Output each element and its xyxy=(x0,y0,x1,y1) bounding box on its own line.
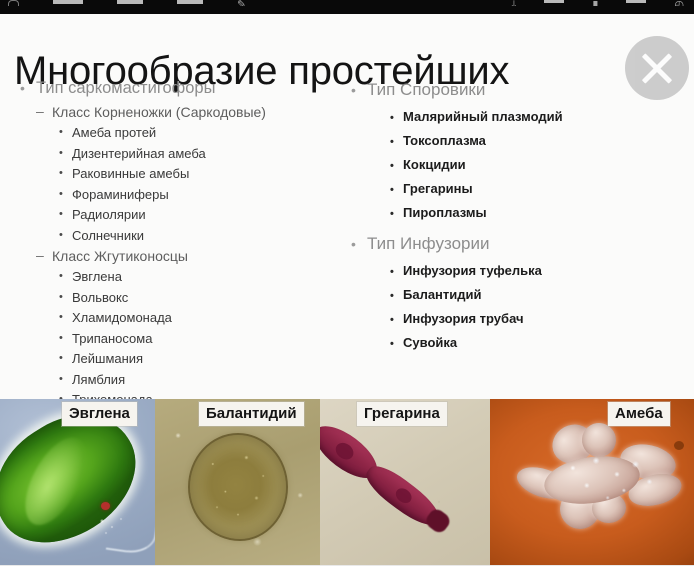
list-item-label: Солнечники xyxy=(72,228,144,243)
euglena-photo: Эвглена xyxy=(0,399,155,565)
menu-icon[interactable] xyxy=(8,0,19,6)
bullet-icon: • xyxy=(351,230,356,258)
content-column-right: • Тип Споровики • Малярийный плазмодий •… xyxy=(345,76,685,360)
bullet-icon: • xyxy=(59,225,63,246)
bullet-icon: • xyxy=(59,348,63,369)
bullet-icon: • xyxy=(59,122,63,143)
photo-caption: Эвглена xyxy=(62,402,137,426)
amoeba-debris-speck xyxy=(674,441,684,450)
outline-heading-sarcomastigophora: • Тип саркомастигофоры xyxy=(14,76,344,101)
amoeba-cell-shape xyxy=(508,423,680,535)
bullet-icon: • xyxy=(59,204,63,225)
dash-bullet-icon: – xyxy=(36,101,44,122)
top-bar-left-icons: ✎ xyxy=(8,0,246,14)
list-item: • Вольвокс xyxy=(14,288,344,309)
bullet-icon: • xyxy=(20,76,25,101)
list-item: • Эвглена xyxy=(14,267,344,288)
list-item-label: Вольвокс xyxy=(72,290,128,305)
list-item-label: Амеба протей xyxy=(72,125,156,140)
outline-level-2-list-flagellata: – Класс Жгутиконосцы • Эвглена • Вольвок… xyxy=(14,246,344,411)
top-bar-right-icons: ⤓ ▮ ◴ xyxy=(511,0,684,14)
download-icon[interactable]: ⤓ xyxy=(511,0,516,6)
outline-level-1-list: • Тип Споровики • Малярийный плазмодий •… xyxy=(345,76,685,225)
list-item: • Инфузория туфелька xyxy=(345,259,685,283)
list-item: • Пироплазмы xyxy=(345,201,685,225)
dash-bullet-icon: – xyxy=(36,245,44,266)
list-item: • Радиолярии xyxy=(14,205,344,226)
battery-icon xyxy=(544,0,564,3)
screenshot-root: ✎ ⤓ ▮ ◴ Многообразие простейших • Тип са… xyxy=(0,0,694,584)
list-item: • Трипаносома xyxy=(14,329,344,350)
outline-level-1-list: • Тип Инфузории • Инфузория туфелька • Б… xyxy=(345,230,685,355)
bullet-icon: • xyxy=(390,178,394,202)
balantidium-cytoplasm-granules xyxy=(196,441,280,533)
list-item: • Солнечники xyxy=(14,226,344,247)
list-item-label: Дизентерийная амеба xyxy=(72,146,206,161)
photo-caption: Балантидий xyxy=(199,402,304,426)
list-item-label: Кокцидии xyxy=(403,157,466,172)
bullet-icon: • xyxy=(59,266,63,287)
list-item: • Балантидий xyxy=(345,283,685,307)
edit-icon[interactable]: ✎ xyxy=(237,0,246,6)
outline-heading-infusoria: • Тип Инфузории xyxy=(345,230,685,258)
list-item: • Кокцидии xyxy=(345,153,685,177)
list-item-label: Малярийный плазмодий xyxy=(403,109,563,124)
outline-group-sporozoa: • Тип Споровики • Малярийный плазмодий •… xyxy=(345,76,685,225)
bullet-icon: • xyxy=(390,332,394,356)
close-button[interactable] xyxy=(625,36,689,100)
bullet-icon: • xyxy=(390,202,394,226)
balantidium-photo: Балантидий xyxy=(155,399,320,565)
bullet-icon: • xyxy=(390,260,394,284)
bullet-icon: • xyxy=(59,184,63,205)
bullet-icon: • xyxy=(59,143,63,164)
outline-level-1-list: • Тип саркомастигофоры xyxy=(14,76,344,101)
balantidium-cyst-shape xyxy=(188,433,288,541)
list-item: • Дизентерийная амеба xyxy=(14,144,344,165)
list-item-label: Раковинные амебы xyxy=(72,166,189,181)
bullet-icon: • xyxy=(59,287,63,308)
list-item-label: Лямблия xyxy=(72,372,125,387)
list-item-label: Эвглена xyxy=(72,269,122,284)
list-item: • Амеба протей xyxy=(14,123,344,144)
list-item-label: Инфузория трубач xyxy=(403,311,524,326)
app-top-bar: ✎ ⤓ ▮ ◴ xyxy=(0,0,694,14)
list-item: • Фораминиферы xyxy=(14,185,344,206)
list-item: • Хламидомонада xyxy=(14,308,344,329)
photo-caption: Амеба xyxy=(608,402,670,426)
outline-subheading-label: Класс Корненожки (Саркодовые) xyxy=(52,104,266,120)
list-item: • Раковинные амебы xyxy=(14,164,344,185)
outline-subheading-flagellata: – Класс Жгутиконосцы xyxy=(14,246,344,267)
clock-icon: ◴ xyxy=(674,0,684,6)
bullet-icon: • xyxy=(59,369,63,390)
outline-level-2-list-rhizopoda: – Класс Корненожки (Саркодовые) • Амеба … xyxy=(14,102,344,246)
outline-subheading-rhizopoda: – Класс Корненожки (Саркодовые) xyxy=(14,102,344,123)
list-item-label: Инфузория туфелька xyxy=(403,263,542,278)
outline-subheading-label: Класс Жгутиконосцы xyxy=(52,248,188,264)
tab-icon[interactable] xyxy=(53,0,83,4)
wifi-icon xyxy=(626,0,646,3)
list-item: • Инфузория трубач xyxy=(345,307,685,331)
list-item: • Лямблия xyxy=(14,370,344,391)
list-item-label: Пироплазмы xyxy=(403,205,487,220)
list-item: • Сувойка xyxy=(345,331,685,355)
euglena-eyespot xyxy=(101,502,110,510)
list-item-label: Грегарины xyxy=(403,181,473,196)
bullet-icon: • xyxy=(351,76,356,104)
photo-caption: Грегарина xyxy=(357,402,447,426)
bullet-icon: • xyxy=(390,130,394,154)
outline-heading-label: Тип саркомастигофоры xyxy=(36,79,215,97)
list-item: • Грегарины xyxy=(345,177,685,201)
list-item-label: Сувойка xyxy=(403,335,457,350)
outline-heading-label: Тип Споровики xyxy=(367,80,485,99)
tab-icon[interactable] xyxy=(117,0,143,4)
photo-strip: Эвглена Балантидий Грегарина xyxy=(0,399,694,565)
list-item-label: Балантидий xyxy=(403,287,482,302)
outline-group-infusoria: • Тип Инфузории • Инфузория туфелька • Б… xyxy=(345,230,685,355)
bullet-icon: • xyxy=(59,163,63,184)
bullet-icon: • xyxy=(390,308,394,332)
slide-surface: Многообразие простейших • Тип саркомасти… xyxy=(0,14,694,584)
bullet-icon: • xyxy=(390,154,394,178)
list-item: • Токсоплазма xyxy=(345,129,685,153)
list-item: • Малярийный плазмодий xyxy=(345,105,685,129)
amoeba-photo: Амеба xyxy=(490,399,694,565)
list-item-label: Фораминиферы xyxy=(72,187,169,202)
list-item: • Лейшмания xyxy=(14,349,344,370)
outline-heading-label: Тип Инфузории xyxy=(367,234,489,253)
list-item-label: Токсоплазма xyxy=(403,133,486,148)
bullet-icon: • xyxy=(59,328,63,349)
bullet-icon: • xyxy=(390,284,394,308)
bullet-icon: • xyxy=(59,307,63,328)
list-item-label: Хламидомонада xyxy=(72,310,172,325)
bottom-gutter xyxy=(0,565,694,584)
tab-icon[interactable] xyxy=(177,0,203,4)
gregarina-photo: Грегарина xyxy=(320,399,490,565)
content-column-left: • Тип саркомастигофоры – Класс Корненожк… xyxy=(14,76,344,411)
signal-icon: ▮ xyxy=(592,0,598,6)
list-item-label: Радиолярии xyxy=(72,207,146,222)
list-item-label: Лейшмания xyxy=(72,351,143,366)
amoeba-granules xyxy=(552,447,668,509)
euglena-chloroplast xyxy=(13,428,99,534)
list-item-label: Трипаносома xyxy=(72,331,152,346)
bullet-icon: • xyxy=(390,106,394,130)
